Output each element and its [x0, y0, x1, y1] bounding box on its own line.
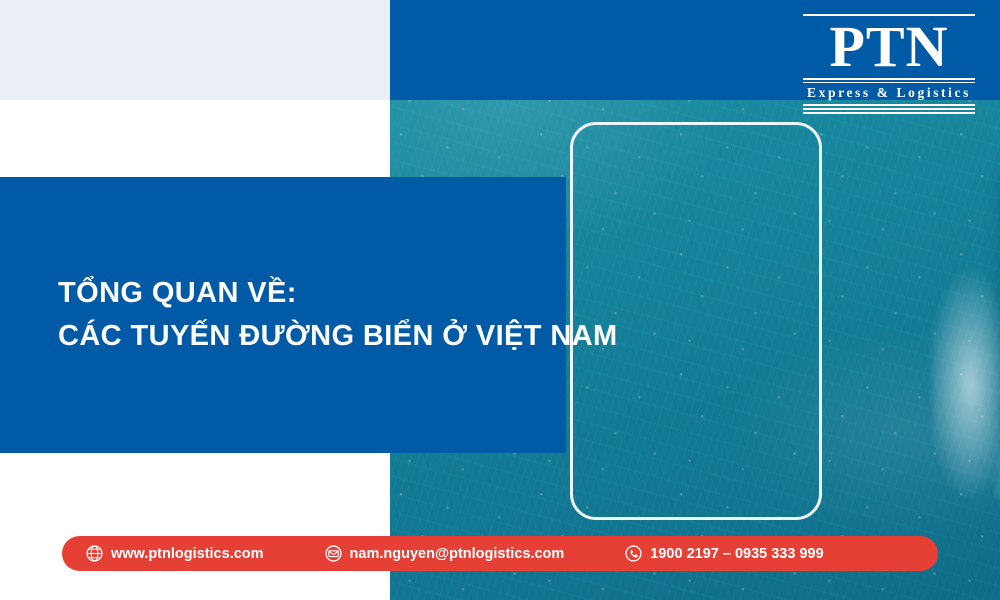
globe-icon	[85, 544, 104, 563]
top-left-grey-band	[0, 0, 390, 100]
container-ship-aerial	[990, 140, 1000, 440]
email-label: nam.nguyen@ptnlogistics.com	[350, 546, 565, 562]
logo-wordmark: PTN	[798, 19, 980, 74]
contact-phone[interactable]: 1900 2197 – 0935 333 999	[624, 544, 823, 563]
contact-website[interactable]: www.ptnlogistics.com	[85, 544, 264, 563]
ptn-logo[interactable]: PTN Express & Logistics	[798, 14, 980, 114]
contact-footer-bar: www.ptnlogistics.com nam.nguyen@ptnlogis…	[62, 536, 938, 571]
title-line-2: CÁC TUYẾN ĐƯỜNG BIỂN Ở VIỆT NAM	[58, 315, 618, 358]
contact-email[interactable]: nam.nguyen@ptnlogistics.com	[324, 544, 565, 563]
lower-white-band	[0, 453, 390, 600]
logo-rule-bottom-1	[803, 104, 975, 106]
phone-label: 1900 2197 – 0935 333 999	[650, 546, 823, 562]
logo-rule-bottom-3	[803, 112, 975, 114]
website-label: www.ptnlogistics.com	[111, 546, 264, 562]
title-line-1: TỔNG QUAN VỀ:	[58, 272, 618, 315]
ship-wake	[932, 198, 1000, 498]
title-panel: TỔNG QUAN VỀ: CÁC TUYẾN ĐƯỜNG BIỂN Ở VIỆ…	[0, 177, 566, 453]
poster-canvas: PTN Express & Logistics TỔNG QUAN VỀ: CÁ…	[0, 0, 1000, 600]
logo-rule-bottom-2	[803, 108, 975, 110]
upper-white-band	[0, 100, 390, 177]
envelope-icon	[324, 544, 343, 563]
logo-rule-mid-2	[803, 82, 975, 83]
phone-icon	[624, 544, 643, 563]
title-text-block: TỔNG QUAN VỀ: CÁC TUYẾN ĐƯỜNG BIỂN Ở VIỆ…	[0, 272, 618, 358]
logo-tagline: Express & Logistics	[798, 85, 980, 101]
